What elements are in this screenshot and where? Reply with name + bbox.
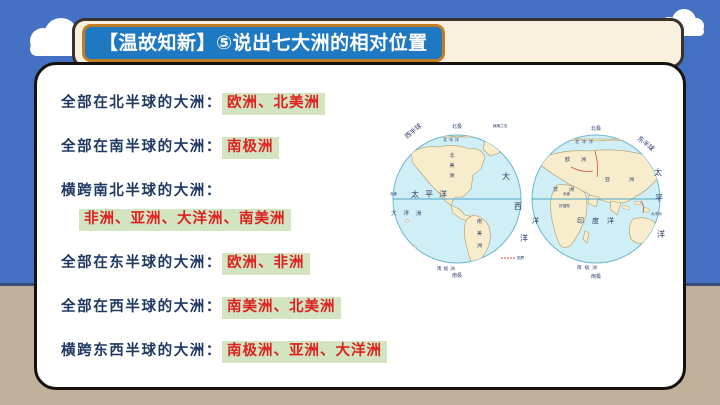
statement-answer: 南极洲 [222, 137, 279, 159]
map-label-asia-1: 亚 [605, 177, 610, 183]
map-label-south-america-3: 洲 [477, 243, 482, 249]
map-label-equator-west: 赤道 [390, 191, 397, 196]
statement-answer: 南美洲、北美洲 [222, 297, 341, 319]
statement-label: 横跨东西半球的大洲： [61, 344, 222, 360]
map-label-europe-2: 洲 [581, 157, 586, 163]
statement-answer: 非洲、亚洲、大洋洲、南美洲 [79, 209, 291, 231]
map-label-atlantic-west-3: 洋 [520, 233, 528, 243]
map-label-pacific-east-2: 平 [655, 194, 663, 203]
title-pill: 【温故知新】⑤说出七大洲的相对位置 [82, 24, 445, 62]
map-label-pacific-east-3: 洋 [657, 229, 665, 239]
map-label-arctic-ocean-west: 北冰洋 [443, 136, 461, 142]
map-label-west-hemisphere: 西半球 [403, 121, 424, 141]
statement-label: 全部在东半球的大洲： [61, 256, 222, 272]
map-label-pacific-east-1: 太 [654, 167, 662, 177]
map-label-asia-2: 洲 [629, 177, 634, 183]
map-label-north-america-3: 洲 [449, 173, 454, 179]
map-label-atlantic-west-2: 西 [514, 202, 522, 211]
statement-answer: 欧洲、非洲 [222, 253, 310, 275]
statement-label: 横跨南北半球的大洲： [61, 184, 222, 200]
content-card: 全部在北半球的大洲： 欧洲、北美洲 全部在南半球的大洲： 南极洲 横跨南北半球的… [34, 62, 686, 390]
statement-label: 全部在西半球的大洲： [61, 300, 222, 316]
row-spacer [61, 325, 461, 339]
statement-label: 全部在南半球的大洲： [61, 140, 222, 156]
map-label-south-america-2: 美 [477, 230, 482, 237]
map-label-cape-of-good-hope: 好望角 [559, 203, 570, 208]
map-label-antarctica-east: 南极洲 [577, 264, 600, 271]
map-label-oceania-east: 大洋洲 [651, 211, 662, 216]
map-label-south-america-1: 南 [477, 218, 482, 225]
map-label-africa-1: 非 [553, 186, 558, 193]
map-legend-label: 国界 [517, 255, 525, 260]
map-label-east-hemisphere: 东半球 [636, 134, 657, 154]
list-item: 横跨东西半球的大洲： 南极洲、亚洲、大洋洲 [61, 339, 461, 365]
map-label-greenland: 格陵兰岛 [493, 123, 508, 128]
statement-answer: 欧洲、北美洲 [222, 93, 325, 115]
map-label-north-pole-west: 北极 [452, 123, 462, 130]
map-label-atlantic-east: 洋 [532, 216, 539, 225]
map-label-north-pole-east: 北极 [591, 125, 601, 132]
map-label-equator-east: 赤道 [563, 191, 570, 196]
hemispheres-map-image: 北极 南极 西半球 格陵兰岛 北冰洋 北 美 洲 太平洋 赤道 大洋洲 大 西 … [389, 101, 667, 297]
page-title: 【温故知新】⑤说出七大洲的相对位置 [99, 34, 428, 53]
list-item: 全部在西半球的大洲： 南美洲、北美洲 [61, 295, 461, 321]
map-label-north-america-1: 北 [449, 152, 454, 159]
map-label-arctic-ocean-east: 北冰洋 [575, 138, 596, 144]
map-label-indian-ocean: 印度洋 [577, 216, 622, 225]
map-label-north-america-2: 美 [449, 162, 454, 169]
map-label-europe-1: 欧 [565, 156, 570, 163]
statement-label: 全部在北半球的大洲： [61, 96, 222, 112]
map-label-south-pole-west: 南极 [452, 272, 462, 279]
statement-answer: 南极洲、亚洲、大洋洲 [222, 341, 387, 363]
map-label-atlantic-west-1: 大 [502, 171, 510, 181]
slide-canvas: 【温故知新】⑤说出七大洲的相对位置 全部在北半球的大洲： 欧洲、北美洲 全部在南… [0, 0, 720, 405]
map-label-south-pole-east: 南极 [591, 273, 601, 280]
map-label-pacific-west: 太平洋 [411, 189, 453, 199]
map-label-oceania-west: 大洋洲 [391, 209, 429, 217]
map-label-antarctica-west: 南极洲 [437, 265, 457, 272]
